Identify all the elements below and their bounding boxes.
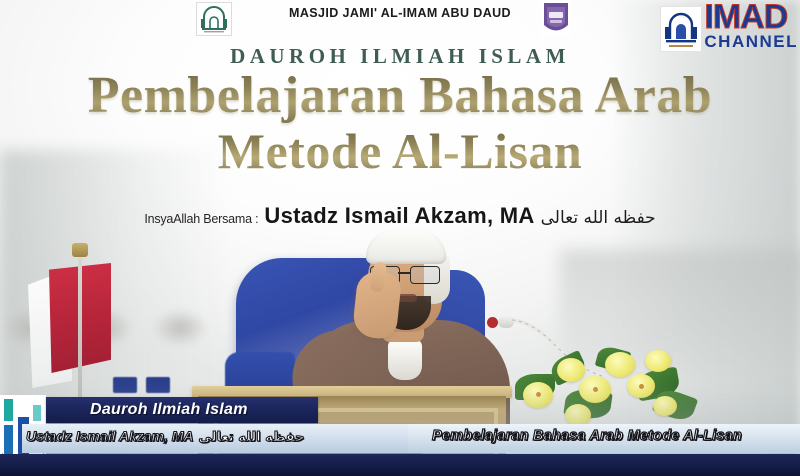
- banner-title-line-1: Pembelajaran Bahasa Arab: [0, 68, 800, 124]
- lower-third-program-bar: Dauroh Ilmiah Islam: [46, 397, 318, 423]
- banner-speaker-honorific: حفظه الله تعالى: [541, 208, 656, 228]
- speaker-collar: [388, 340, 422, 380]
- lower-third-topic-text: Pembelajaran Bahasa Arab Metode Al-Lisan: [432, 428, 742, 444]
- imad-wordmark: IMAD: [704, 2, 798, 32]
- lower-third-speaker-row: Ustadz Ismail Akzam, MA حفظه الله تعالى: [26, 428, 305, 445]
- lower-third-speaker-honorific: حفظه الله تعالى: [199, 430, 305, 445]
- banner-title-line-2: Metode Al-Lisan: [0, 124, 800, 178]
- banner-eyebrow: DAUROH ILMIAH ISLAM: [0, 44, 800, 69]
- lower-third-bottom-band: [0, 454, 800, 476]
- banner-speaker-row: InsyaAllah Bersama : Ustadz Ismail Akzam…: [0, 203, 800, 229]
- banner-speaker-prefix: InsyaAllah Bersama :: [144, 212, 258, 226]
- video-frame: MASJID JAMI' AL-IMAM ABU DAUD IMAD CHANN…: [0, 0, 800, 476]
- speaker-white-cap: [366, 230, 446, 264]
- lower-third-speaker-name: Ustadz Ismail Akzam, MA: [26, 428, 194, 444]
- banner-speaker-name: Ustadz Ismail Akzam, MA: [264, 203, 534, 229]
- purple-crest-icon: [541, 1, 571, 37]
- masjid-name-label: MASJID JAMI' AL-IMAM ABU DAUD: [250, 6, 550, 20]
- mosque-arch-icon: [196, 2, 232, 36]
- microphone-windscreen-red: [487, 317, 498, 328]
- lower-third-program-title: Dauroh Ilmiah Islam: [90, 401, 248, 419]
- flag-finial: [72, 243, 88, 257]
